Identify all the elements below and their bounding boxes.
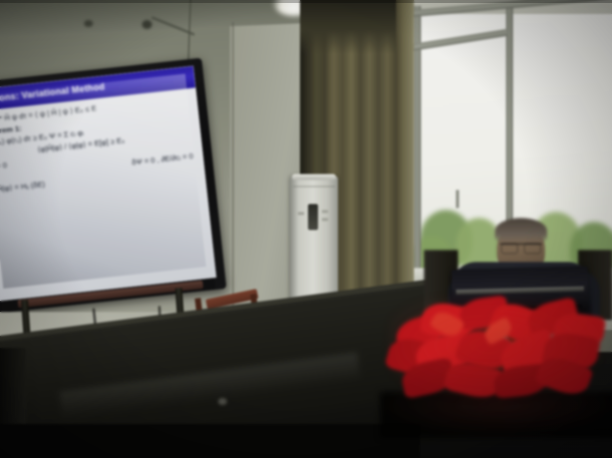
window-latch[interactable] [456,190,459,208]
eyeglasses-frame [500,243,542,254]
top-edge-band [0,0,612,3]
air-conditioner-indicator-right-2 [322,218,328,221]
air-conditioner-indicator-left [298,212,304,215]
presentation-slide: ulations: Variational Method ∫ ψ* Ĥ ψ d… [0,66,216,302]
flat-panel-display[interactable]: ulations: Variational Method ∫ ψ* Ĥ ψ d… [0,58,227,314]
display-screen[interactable]: ulations: Variational Method ∫ ψ* Ĥ ψ d… [0,66,216,302]
presenter-hair [495,218,547,244]
slide-body: ∫ ψ* Ĥ ψ dτ = ⟨ ψ | Ĥ | ψ ⟩ E₀ ≤ E The… [0,92,214,299]
wall-corner-seam [232,22,234,322]
photo-scene: ulations: Variational Method ∫ ψ* Ĥ ψ d… [0,0,612,458]
red-poinsettia-plants [388,296,612,420]
air-conditioner-seam [293,186,335,187]
curtain-edge-panel[interactable] [396,0,414,330]
air-conditioner-control-panel[interactable] [308,204,318,230]
table-object [218,398,227,405]
foreground-shadow [0,424,420,458]
air-conditioner-indicator-right [322,210,328,213]
air-conditioner-top-vent [292,174,336,180]
wall-fixture-dot [84,20,93,27]
wall-mount-bracket [142,20,152,29]
